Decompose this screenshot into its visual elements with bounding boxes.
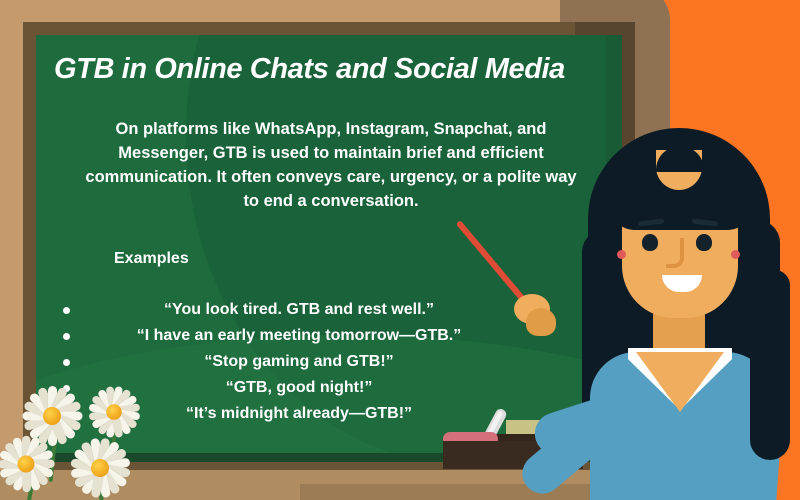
list-item-text: “GTB, good night!” (226, 379, 373, 396)
teacher-illustration (470, 120, 800, 500)
eye-right (696, 234, 712, 251)
daisy-cluster (0, 382, 166, 500)
earring-right-icon (731, 250, 740, 259)
slide-canvas: GTB in Online Chats and Social Media On … (0, 0, 800, 500)
page-title: GTB in Online Chats and Social Media (54, 53, 624, 86)
bullet-icon (63, 333, 70, 340)
list-item-text: “I have an early meeting tomorrow—GTB.” (137, 327, 462, 344)
bullet-icon (63, 307, 70, 314)
daisy-center (106, 404, 121, 419)
daisy-flower-icon (66, 434, 134, 500)
hair-drape-front-right (750, 270, 790, 460)
eye-left (642, 234, 658, 251)
daisy-center (43, 407, 61, 425)
list-item-text: “Stop gaming and GTB!” (204, 353, 393, 370)
daisy-flower-icon (85, 383, 143, 441)
daisy-flower-icon (0, 432, 58, 496)
examples-heading: Examples (114, 250, 189, 268)
bullet-icon (63, 359, 70, 366)
list-item-text: “It’s midnight already—GTB!” (186, 405, 412, 422)
nose (666, 238, 684, 268)
earring-left-icon (617, 250, 626, 259)
list-item-text: “You look tired. GTB and rest well.” (164, 301, 434, 318)
daisy-center (18, 456, 35, 473)
hand-left-fingers (526, 308, 556, 336)
daisy-center (91, 459, 109, 477)
